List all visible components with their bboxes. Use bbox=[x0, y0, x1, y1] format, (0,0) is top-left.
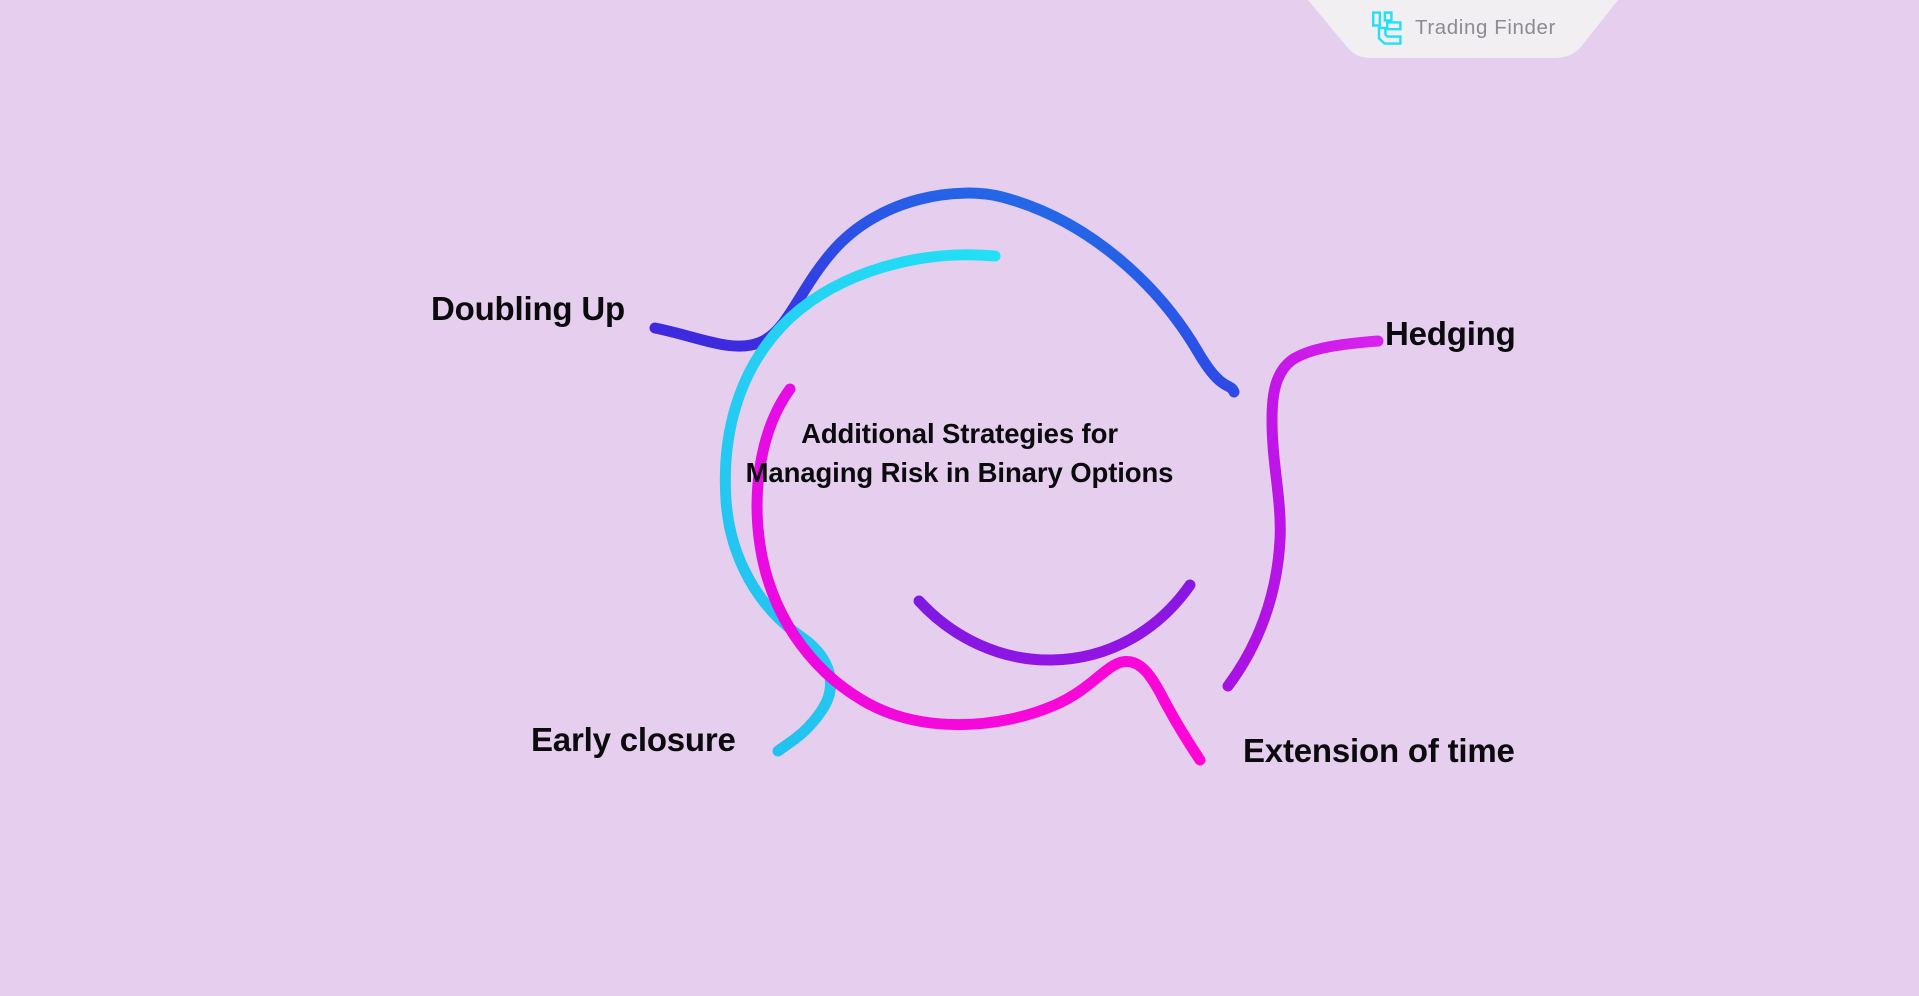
connector-doubling-up bbox=[655, 193, 1234, 392]
center-heading-line-2: Managing Risk in Binary Options bbox=[680, 453, 1240, 492]
node-label-doubling-up: Doubling Up bbox=[431, 292, 625, 325]
inner-arc-violet bbox=[919, 585, 1190, 660]
connector-early-closure bbox=[725, 255, 995, 751]
node-label-early-closure: Early closure bbox=[531, 723, 736, 756]
center-heading: Additional Strategies for Managing Risk … bbox=[680, 414, 1240, 492]
strategy-circle-diagram bbox=[0, 0, 1919, 996]
node-label-hedging: Hedging bbox=[1385, 317, 1516, 350]
trading-finder-logo-icon bbox=[1370, 10, 1404, 46]
center-heading-line-1: Additional Strategies for bbox=[680, 414, 1240, 453]
connector-hedging bbox=[1228, 341, 1378, 686]
brand-badge: Trading Finder bbox=[1308, 0, 1618, 62]
node-label-extension-of-time: Extension of time bbox=[1243, 734, 1515, 767]
brand-name: Trading Finder bbox=[1415, 18, 1556, 39]
diagram-canvas: Additional Strategies for Managing Risk … bbox=[0, 0, 1919, 996]
